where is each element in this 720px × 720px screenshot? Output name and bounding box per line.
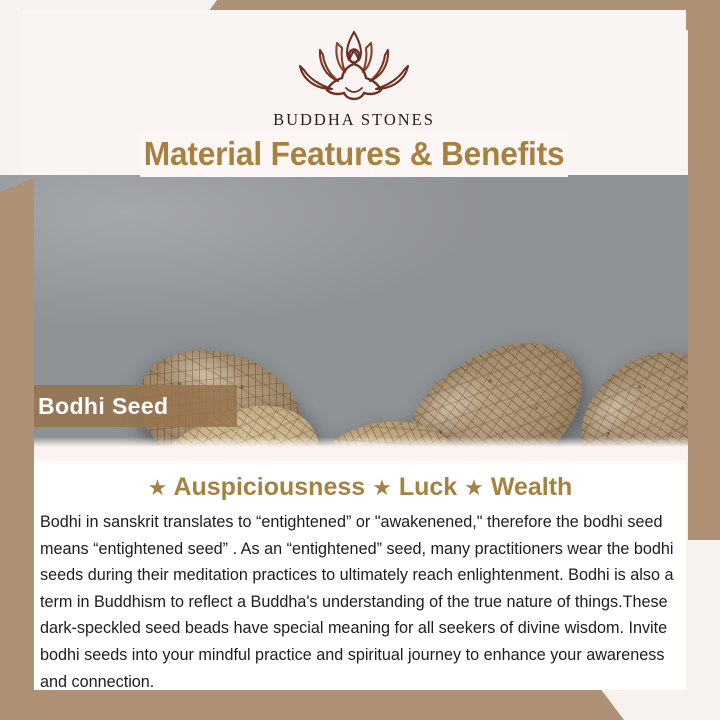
star-icon: ★	[148, 475, 168, 500]
lotus-meditation-icon	[280, 26, 428, 108]
benefit-wealth: Wealth	[491, 473, 573, 501]
brand-wordmark: BUDDHA STONES	[273, 110, 435, 130]
star-icon: ★	[372, 475, 392, 500]
photo-bottom-fade	[0, 437, 720, 447]
benefits-headline: ★ Auspiciousness ★ Luck ★ Wealth	[34, 473, 686, 502]
brand-logo: BUDDHA STONES	[22, 26, 686, 130]
benefit-luck: Luck	[399, 473, 457, 501]
frame-right-border	[688, 0, 720, 540]
page-title: Material Features & Benefits	[144, 135, 565, 173]
frame-left-border	[0, 178, 34, 718]
header: BUDDHA STONES Material Features & Benefi…	[22, 10, 686, 175]
description-card: ★ Auspiciousness ★ Luck ★ Wealth Bodhi i…	[34, 447, 686, 690]
product-info-card: BUDDHA STONES Material Features & Benefi…	[0, 0, 720, 720]
description-body: Bodhi in sanskrit translates to “entight…	[40, 509, 686, 695]
title-banner: Material Features & Benefits	[140, 131, 568, 177]
card-top-tint	[34, 447, 686, 461]
photo-caption-band: Bodhi Seed	[0, 385, 237, 427]
star-icon: ★	[464, 475, 484, 500]
benefit-auspiciousness: Auspiciousness	[173, 473, 365, 501]
product-photo: Bodhi Seed	[0, 175, 720, 447]
